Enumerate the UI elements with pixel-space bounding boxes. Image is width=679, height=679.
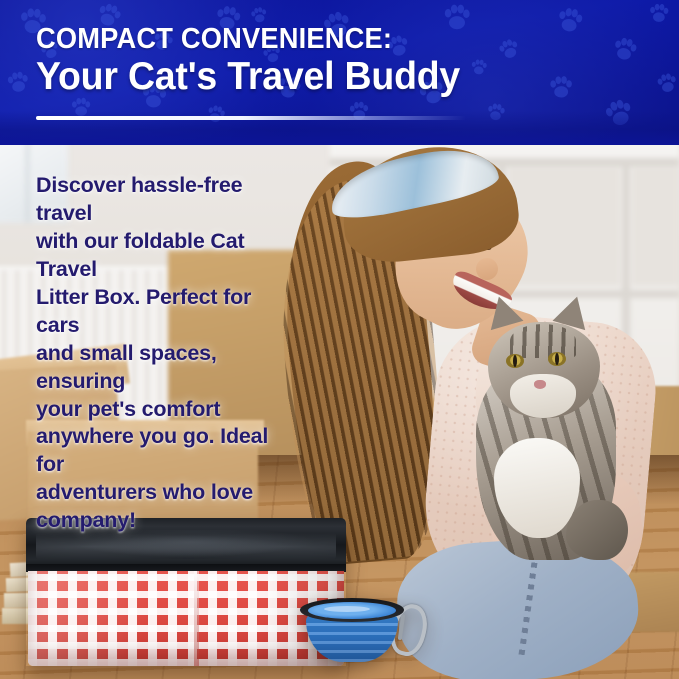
product-banner: COMPACT CONVENIENCE: Your Cat's Travel B…	[0, 0, 679, 679]
shelf-bay	[632, 168, 679, 286]
header-eyebrow: COMPACT CONVENIENCE:	[36, 24, 619, 54]
header-text-block: COMPACT CONVENIENCE: Your Cat's Travel B…	[36, 24, 656, 97]
litter-box-sheen	[28, 571, 344, 666]
description-text: Discover hassle-free travel with our fol…	[36, 172, 298, 535]
cat-eye	[506, 354, 524, 368]
page-title: Your Cat's Travel Buddy	[36, 56, 631, 97]
cat-figure	[470, 288, 630, 560]
cat-nose	[534, 380, 546, 389]
title-underline	[36, 116, 466, 120]
bowl-interior	[308, 602, 396, 619]
litter-box-product	[26, 518, 346, 666]
travel-bowl-product	[300, 598, 404, 664]
banner-header: COMPACT CONVENIENCE: Your Cat's Travel B…	[0, 0, 679, 145]
cat-eye	[548, 352, 566, 366]
cat-tail	[566, 500, 628, 560]
cat-ear	[483, 292, 524, 330]
